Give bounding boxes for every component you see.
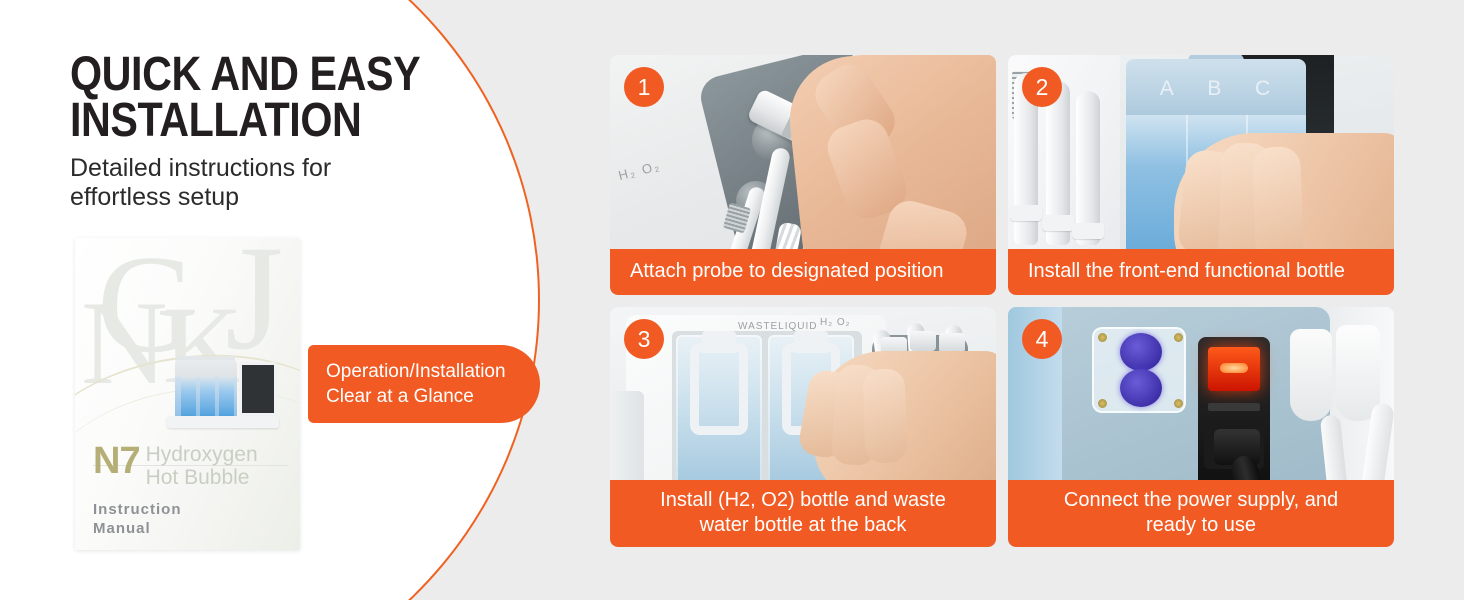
step-card-1: H₂ O₂ 1 Attach probe to designated posit… [610, 55, 996, 295]
glance-badge-line-1: Operation/Installation [326, 359, 522, 384]
socket-slot [1208, 403, 1260, 411]
bottle-handle-1 [690, 343, 748, 435]
headline-line-2: INSTALLATION [70, 98, 431, 144]
manual-doc-line-1: Instruction [93, 500, 182, 519]
step-caption-2: Install the front-end functional bottle [1008, 249, 1394, 295]
bottle-label-a: A [1160, 77, 1176, 101]
step-card-3: WASTELIQUID H₂ O₂ O2 3 Install (H2, O2) … [610, 307, 996, 547]
manual-doc-line-2: Manual [93, 519, 182, 538]
fuse-indicator-1 [1120, 333, 1162, 371]
screw-3 [1098, 399, 1107, 408]
finger-3 [862, 368, 907, 463]
step-badge-3: 3 [624, 319, 664, 359]
manual-model-name: N7 [93, 442, 140, 480]
step-caption-4-line-2: ready to use [1016, 513, 1386, 538]
bottle-labels: A B C [1126, 77, 1306, 101]
rear-connector-3 [939, 333, 965, 353]
cover-device-illustration [167, 346, 279, 428]
power-switch-illuminated [1208, 347, 1260, 391]
step-caption-3-line-2: water bottle at the back [618, 513, 988, 538]
headline-block: QUICK AND EASY INSTALLATION Detailed ins… [70, 52, 490, 212]
device-screen [239, 362, 277, 416]
device-vial-1 [181, 376, 196, 418]
step-caption-4: Connect the power supply, and ready to u… [1008, 480, 1394, 547]
device-vial-2 [200, 376, 215, 418]
gas-bottle-label: H₂ O₂ [820, 317, 851, 328]
headline-line-1: QUICK AND EASY [70, 52, 431, 98]
step-caption-3: Install (H2, O2) bottle and waste water … [610, 480, 996, 547]
screw-1 [1098, 333, 1107, 342]
glance-badge: Operation/Installation Clear at a Glance [308, 345, 540, 423]
bottle-label-b: B [1207, 77, 1223, 101]
instruction-manual-cover: G J N K N7 Hydroxygen Hot Bubble Instruc… [75, 238, 300, 550]
step-badge-2: 2 [1022, 67, 1062, 107]
step-card-2: A B C 2 Install the front-end functional… [1008, 55, 1394, 295]
rear-connector-2 [910, 331, 936, 351]
step-badge-4: 4 [1022, 319, 1062, 359]
manual-brand-block: N7 Hydroxygen Hot Bubble [93, 444, 288, 489]
step-badge-1: 1 [624, 67, 664, 107]
bottle-label-c: C [1255, 77, 1272, 101]
step-caption-4-line-1: Connect the power supply, and [1016, 488, 1386, 513]
handpiece-holder-2 [1290, 329, 1332, 421]
finger-3 [1252, 146, 1304, 264]
rack-clip-1 [1010, 205, 1042, 221]
subheadline: Detailed instructions for effortless set… [70, 154, 420, 212]
manual-doc-type: Instruction Manual [93, 500, 182, 538]
photo-1-gas-label: H₂ O₂ [617, 158, 663, 183]
device-base [167, 416, 279, 428]
step-caption-3-line-1: Install (H2, O2) bottle and waste [618, 488, 988, 513]
glance-badge-line-2: Clear at a Glance [326, 384, 522, 409]
fuse-indicator-2 [1120, 369, 1162, 407]
screw-2 [1174, 333, 1183, 342]
rack-clip-3 [1072, 223, 1104, 239]
installation-steps-grid: H₂ O₂ 1 Attach probe to designated posit… [610, 55, 1400, 555]
device-vial-3 [219, 376, 234, 418]
step-caption-1: Attach probe to designated position [610, 249, 996, 295]
rack-clip-2 [1042, 215, 1074, 231]
screw-4 [1174, 399, 1183, 408]
rack-handpiece-3 [1076, 91, 1100, 245]
step-card-4: 4 Connect the power supply, and ready to… [1008, 307, 1394, 547]
